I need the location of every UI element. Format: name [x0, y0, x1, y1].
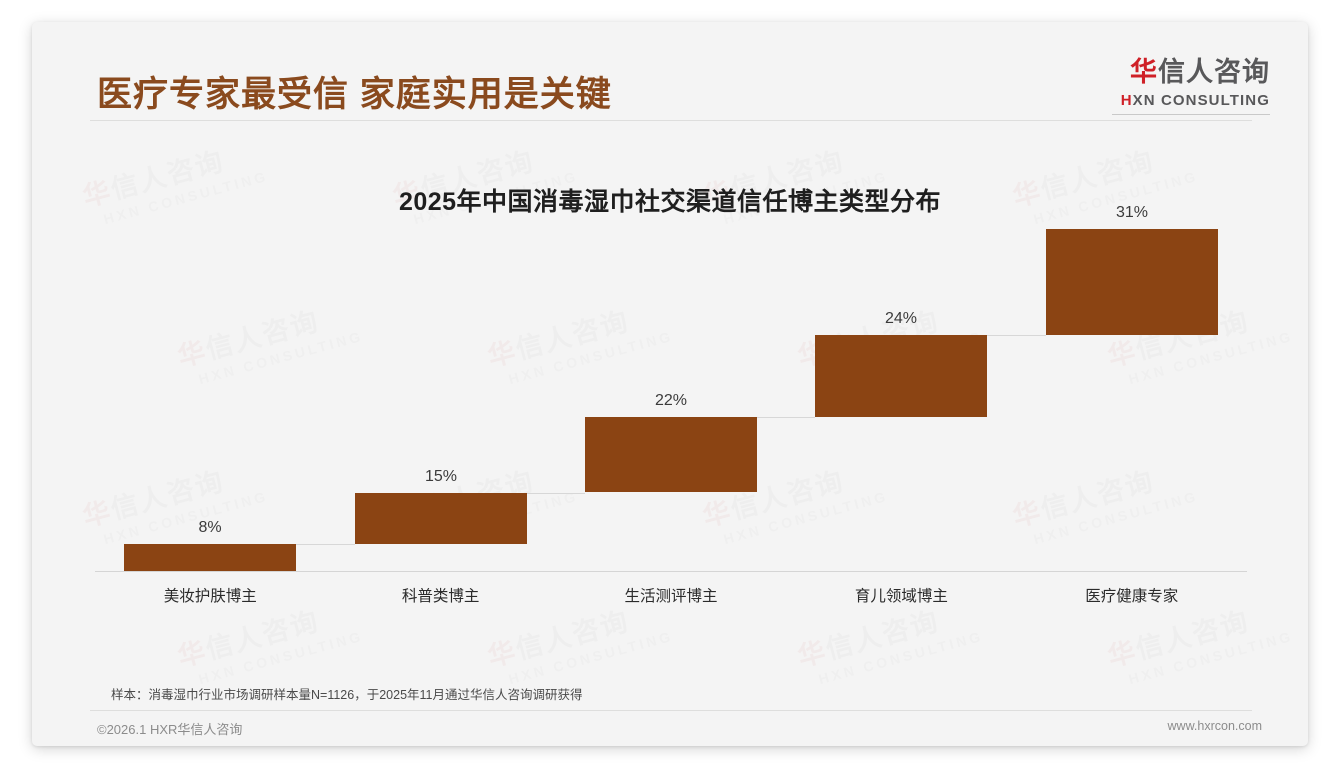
category-label: 科普类博主	[325, 584, 555, 606]
waterfall-chart-plot: 8%美妆护肤博主15%科普类博主22%生活测评博主24%育儿领域博主31%医疗健…	[32, 22, 1308, 746]
footer-divider	[90, 710, 1252, 711]
waterfall-connector	[527, 493, 585, 494]
copyright-text: ©2026.1 HXR华信人咨询	[97, 719, 242, 738]
chart-bar[interactable]	[124, 544, 296, 571]
category-label: 医疗健康专家	[1017, 584, 1247, 606]
category-label: 生活测评博主	[556, 584, 786, 606]
bar-value-label: 15%	[355, 468, 527, 486]
logo-cn-dark: 信人咨询	[1158, 57, 1270, 87]
category-label: 育儿领域博主	[786, 584, 1016, 606]
logo-en-red: H	[1121, 92, 1133, 109]
waterfall-connector	[987, 335, 1046, 336]
chart-bar[interactable]	[1046, 229, 1218, 335]
chart-bar[interactable]	[815, 335, 987, 417]
category-label: 美妆护肤博主	[95, 584, 325, 606]
logo-cn-red: 华	[1130, 57, 1158, 87]
chart-bar[interactable]	[355, 493, 527, 544]
chart-baseline	[95, 571, 1247, 572]
logo-english-text: HXN CONSULTING	[1112, 92, 1270, 109]
waterfall-connector	[757, 417, 815, 418]
slide-canvas: 华信人咨询HXN CONSULTING华信人咨询HXN CONSULTING华信…	[32, 22, 1308, 746]
waterfall-connector	[296, 544, 355, 545]
logo-underline	[1112, 114, 1270, 115]
brand-logo: 华信人咨询 HXN CONSULTING	[1112, 58, 1270, 115]
website-url: www.hxrcon.com	[1168, 719, 1262, 733]
logo-en-dark: XN CONSULTING	[1133, 92, 1270, 109]
source-footnote: 样本：消毒湿巾行业市场调研样本量N=1126，于2025年11月通过华信人咨询调…	[111, 684, 583, 703]
logo-chinese-text: 华信人咨询	[1112, 58, 1270, 88]
bar-value-label: 8%	[124, 519, 296, 537]
bar-value-label: 24%	[815, 310, 987, 328]
bar-value-label: 22%	[585, 392, 757, 410]
header-divider	[90, 120, 1252, 121]
page-title: 医疗专家最受信 家庭实用是关键	[97, 66, 612, 117]
chart-title: 2025年中国消毒湿巾社交渠道信任博主类型分布	[32, 182, 1308, 218]
chart-bar[interactable]	[585, 417, 757, 492]
